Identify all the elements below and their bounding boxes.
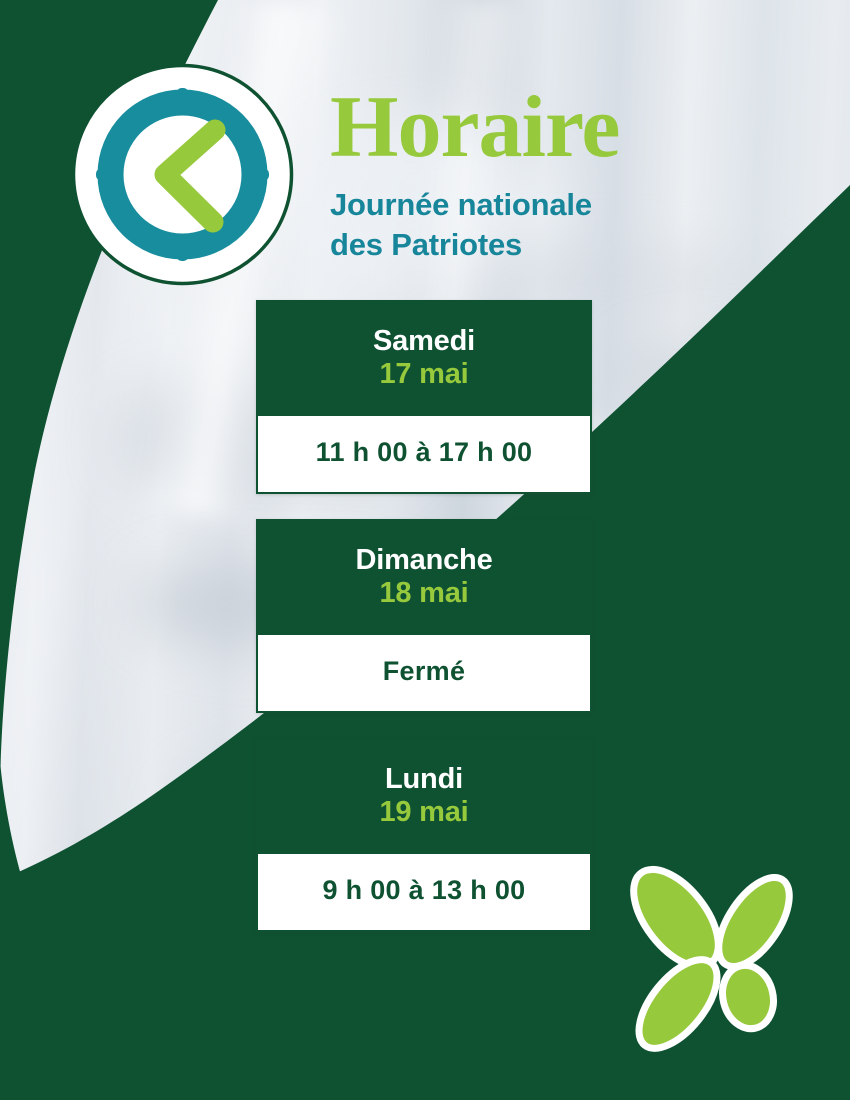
card-body: 11 h 00 à 17 h 00: [256, 416, 592, 494]
card-body: Fermé: [256, 635, 592, 713]
card-header: Dimanche 18 mai: [256, 519, 592, 635]
schedule-card-samedi: Samedi 17 mai 11 h 00 à 17 h 00: [256, 300, 592, 494]
card-body: 9 h 00 à 13 h 00: [256, 854, 592, 932]
card-day-name: Dimanche: [266, 544, 582, 576]
card-hours: 11 h 00 à 17 h 00: [266, 438, 582, 468]
card-date: 17 mai: [266, 357, 582, 392]
card-day-name: Samedi: [266, 325, 582, 357]
card-day-name: Lundi: [266, 763, 582, 795]
page-title: Horaire: [330, 88, 760, 169]
poster-root: Horaire Journée nationale des Patriotes …: [0, 0, 850, 1100]
card-date: 18 mai: [266, 576, 582, 611]
card-header: Lundi 19 mai: [256, 738, 592, 854]
schedule-card-dimanche: Dimanche 18 mai Fermé: [256, 519, 592, 713]
page-subtitle: Journée nationale des Patriotes: [330, 185, 760, 264]
card-date: 19 mai: [266, 795, 582, 830]
subtitle-line-1: Journée nationale: [330, 185, 760, 225]
poster-header: Horaire Journée nationale des Patriotes: [0, 0, 850, 300]
schedule-list: Samedi 17 mai 11 h 00 à 17 h 00 Dimanche…: [256, 300, 592, 957]
subtitle-line-2: des Patriotes: [330, 225, 760, 265]
title-block: Horaire Journée nationale des Patriotes: [330, 88, 760, 264]
butterfly-logo: [614, 856, 820, 1062]
card-hours: 9 h 00 à 13 h 00: [266, 876, 582, 906]
card-hours: Fermé: [266, 657, 582, 687]
clock-icon: [70, 62, 295, 287]
card-header: Samedi 17 mai: [256, 300, 592, 416]
schedule-card-lundi: Lundi 19 mai 9 h 00 à 13 h 00: [256, 738, 592, 932]
